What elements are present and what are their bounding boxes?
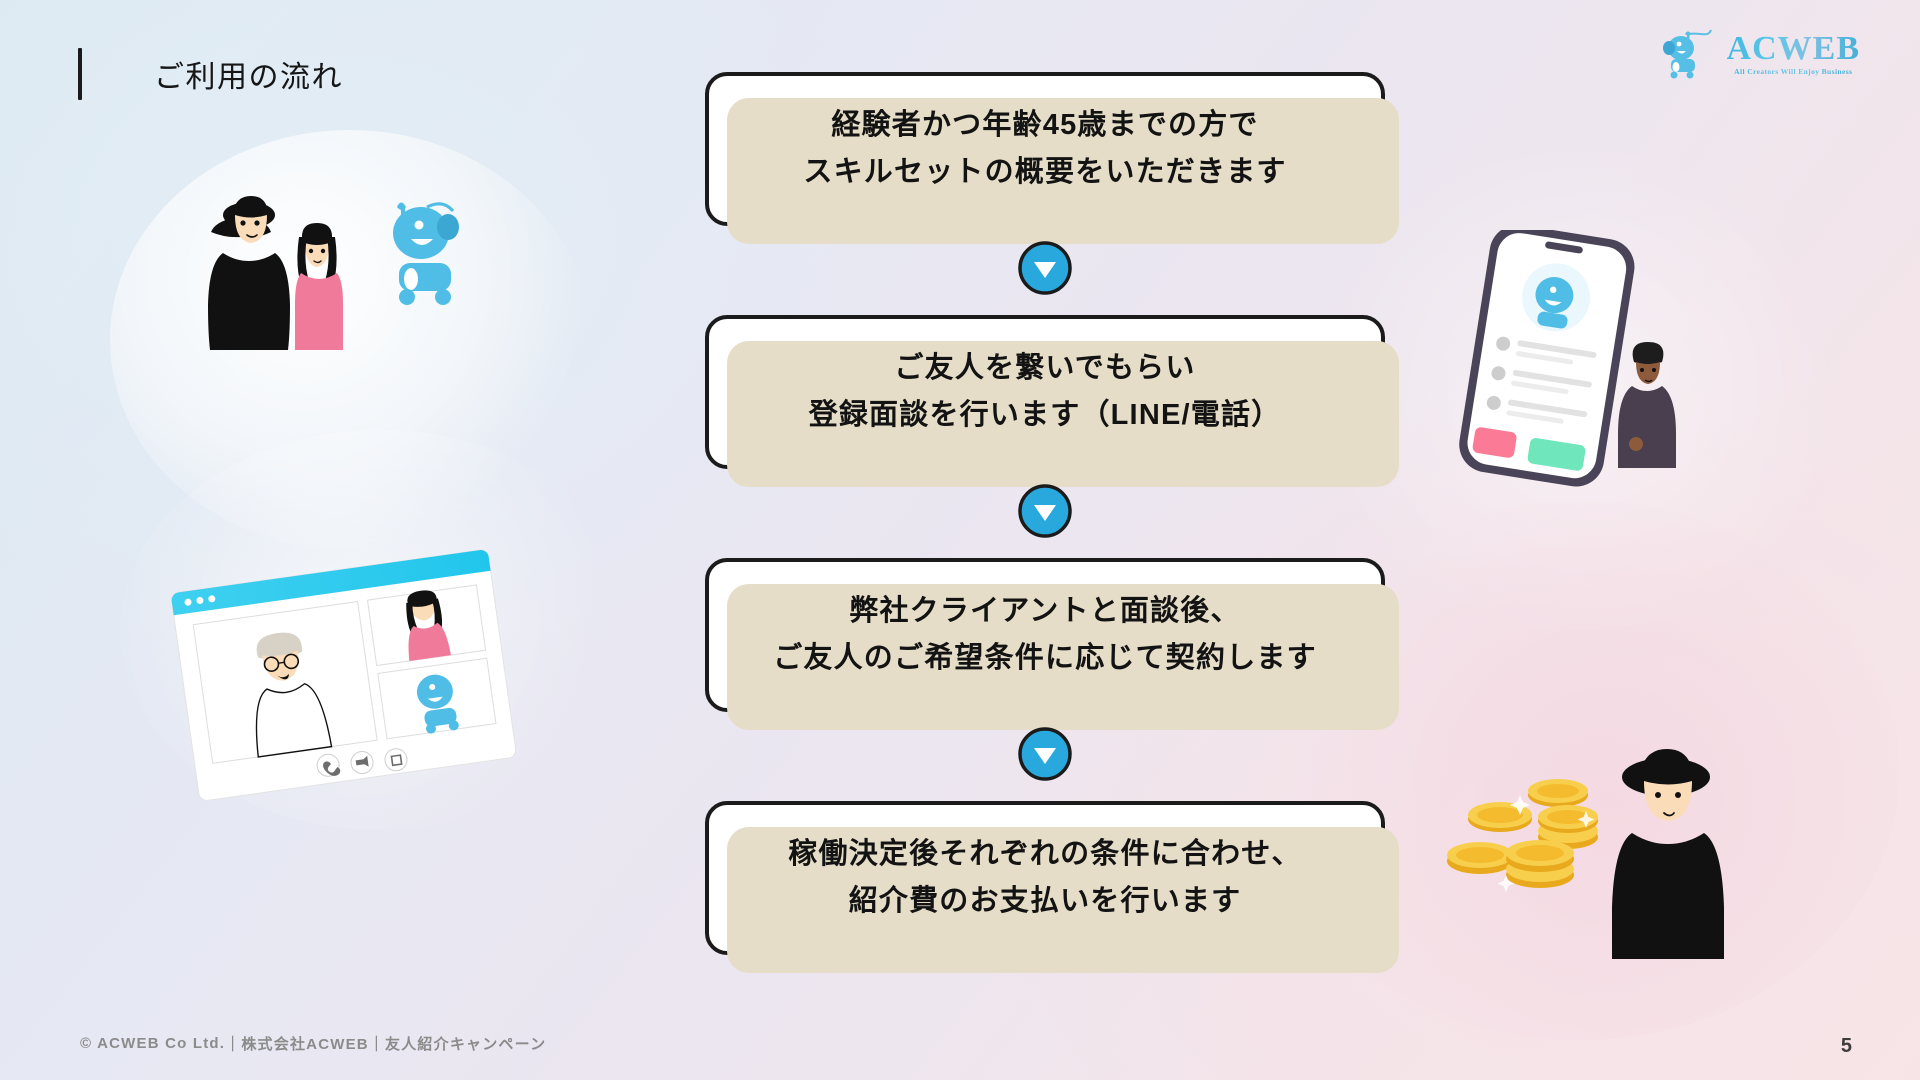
page-title: ご利用の流れ — [154, 52, 343, 96]
flow-step-1-line-1: 経験者かつ年齢45歳までの方で — [831, 102, 1258, 149]
logo-text: ACWEB All Creators Will Enjoy Business — [1727, 32, 1860, 76]
flow-step-4-line-2: 紹介費のお支払いを行います — [849, 878, 1242, 925]
footer-company: 株式会社ACWEB — [241, 1033, 368, 1054]
couple-and-mascot-illustration — [185, 185, 505, 355]
triangle-down-icon — [1017, 240, 1073, 301]
acweb-logo: ACWEB All Creators Will Enjoy Business — [1659, 28, 1860, 80]
page-number: 5 — [1841, 1035, 1852, 1058]
footer: © ACWEB Co Ltd. ｜ 株式会社ACWEB ｜ 友人紹介キャンペーン — [80, 1033, 546, 1054]
flow-step-1-line-2: スキルセットの概要をいただきます — [803, 149, 1286, 196]
smartphone-app-illustration — [1450, 230, 1750, 515]
flow-step-4-line-1: 稼働決定後それぞれの条件に合わせ、 — [788, 831, 1301, 878]
flow-step-3: 弊社クライアントと面談後、 ご友人のご希望条件に応じて契約します — [705, 558, 1385, 712]
flow-step-2: ご友人を繋いでもらい 登録面談を行います（LINE/電話） — [705, 315, 1385, 469]
footer-copyright: © ACWEB Co Ltd. — [80, 1035, 225, 1052]
flow-step-4: 稼働決定後それぞれの条件に合わせ、 紹介費のお支払いを行います — [705, 801, 1385, 955]
gold-coins-and-person-illustration — [1440, 735, 1770, 970]
flow-step-2-line-1: ご友人を繋いでもらい — [894, 345, 1195, 392]
video-call-window-illustration — [165, 540, 525, 805]
flow-step-2-line-2: 登録面談を行います（LINE/電話） — [809, 392, 1282, 439]
title-accent-bar — [78, 48, 82, 100]
acweb-mascot-icon — [1659, 28, 1719, 80]
triangle-down-icon — [1017, 726, 1073, 787]
footer-separator-1: ｜ — [225, 1033, 241, 1054]
process-flow: 経験者かつ年齢45歳までの方で スキルセットの概要をいただきます ご友人を繋いで… — [700, 72, 1390, 955]
footer-separator-2: ｜ — [369, 1033, 385, 1054]
flow-step-3-line-1: 弊社クライアントと面談後、 — [849, 588, 1240, 635]
footer-campaign: 友人紹介キャンペーン — [385, 1033, 546, 1054]
flow-step-3-line-2: ご友人のご希望条件に応じて契約します — [773, 635, 1317, 682]
triangle-down-icon — [1017, 483, 1073, 544]
logo-wordmark: ACWEB — [1727, 32, 1860, 66]
logo-tagline: All Creators Will Enjoy Business — [1734, 68, 1852, 76]
flow-step-1: 経験者かつ年齢45歳までの方で スキルセットの概要をいただきます — [705, 72, 1385, 226]
page-header: ご利用の流れ — [78, 48, 343, 100]
